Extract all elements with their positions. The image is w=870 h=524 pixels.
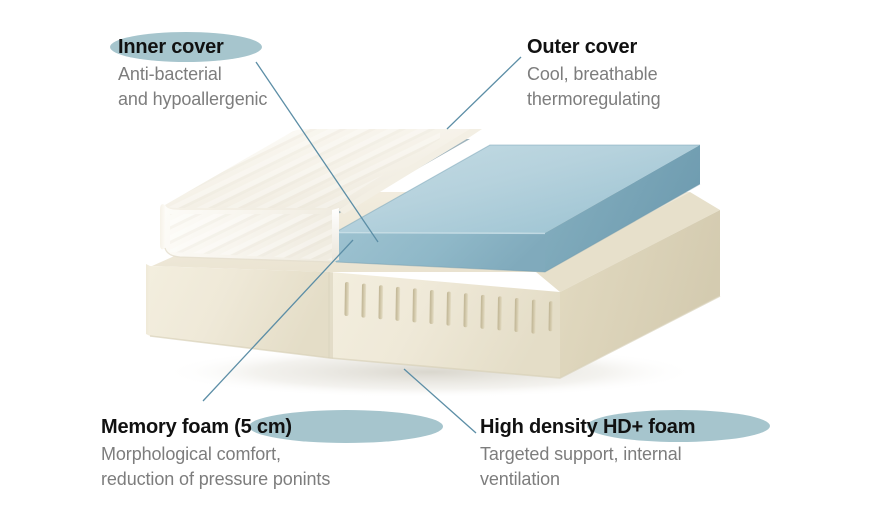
base-foam-front-left — [150, 266, 330, 358]
callout-inner-cover-heading: Inner cover — [118, 34, 224, 60]
callout-memory-foam-heading: Memory foam (5 cm) — [101, 414, 292, 440]
inner-cover-end-left — [160, 204, 165, 249]
base-foam-end-left — [146, 264, 150, 336]
outer-cover-front-edge-highlight — [336, 233, 545, 234]
callout-inner-cover-description: Anti-bacterial and hypoallergenic — [118, 62, 267, 112]
callout-hd-foam: High density HD+ foam Targeted support, … — [480, 414, 695, 492]
callout-memory-foam-heading-text: Memory foam (5 cm) — [101, 416, 292, 438]
inner-cover-quilt-texture — [170, 214, 332, 260]
callout-outer-cover-heading-text: Outer cover — [527, 36, 637, 58]
callout-memory-foam: Memory foam (5 cm) Morphological comfort… — [101, 414, 330, 492]
callout-outer-cover-heading: Outer cover — [527, 34, 637, 60]
callout-inner-cover: Inner cover Anti-bacterial and hypoaller… — [118, 34, 267, 112]
callout-hd-foam-heading-text: High density HD+ foam — [480, 416, 695, 438]
callout-hd-foam-description: Targeted support, internal ventilation — [480, 442, 695, 492]
callout-inner-cover-heading-text: Inner cover — [118, 36, 224, 58]
diagram-canvas: Inner cover Anti-bacterial and hypoaller… — [0, 0, 870, 524]
base-foam-seam — [328, 272, 333, 359]
inner-cover-cut-edge — [332, 208, 339, 262]
callout-hd-foam-heading: High density HD+ foam — [480, 414, 695, 440]
callout-outer-cover: Outer cover Cool, breathable thermoregul… — [527, 34, 660, 112]
callout-memory-foam-description: Morphological comfort, reduction of pres… — [101, 442, 330, 492]
callout-outer-cover-description: Cool, breathable thermoregulating — [527, 62, 660, 112]
